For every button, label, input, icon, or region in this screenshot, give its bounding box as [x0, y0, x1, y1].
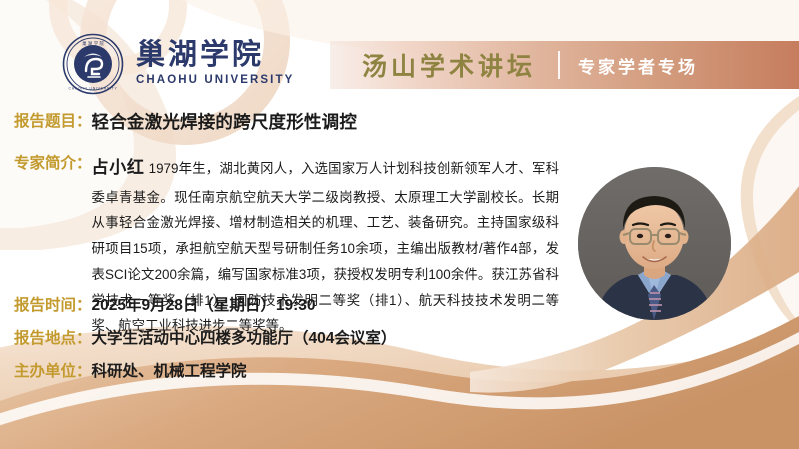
report-place-label: 报告地点： — [14, 327, 92, 350]
speaker-bio-label: 专家简介： — [14, 152, 92, 175]
speaker-portrait — [578, 167, 731, 320]
report-title-label: 报告题目： — [14, 110, 92, 133]
organizer-label: 主办单位： — [14, 360, 92, 383]
report-time-value: 2025年9月28日（星期日）19:30 — [92, 294, 316, 317]
report-time-label: 报告时间： — [14, 294, 92, 317]
organizer-value: 科研处、机械工程学院 — [92, 360, 247, 383]
report-place-value: 大学生活动中心四楼多功能厅（404会议室） — [92, 327, 397, 350]
report-title-row: 报告题目： 轻合金激光焊接的跨尺度形性调控 — [14, 110, 357, 135]
seminar-poster: 巢 湖 学 院 CHAOHU UNIVERSITY 巢湖学院 CHAOHU UN… — [0, 0, 799, 449]
speaker-name: 占小红 — [92, 158, 145, 177]
report-place-row: 报告地点： 大学生活动中心四楼多功能厅（404会议室） — [14, 327, 396, 350]
report-time-row: 报告时间： 2025年9月28日（星期日）19:30 — [14, 294, 316, 317]
organizer-row: 主办单位： 科研处、机械工程学院 — [14, 360, 247, 383]
report-title-value: 轻合金激光焊接的跨尺度形性调控 — [92, 110, 358, 135]
